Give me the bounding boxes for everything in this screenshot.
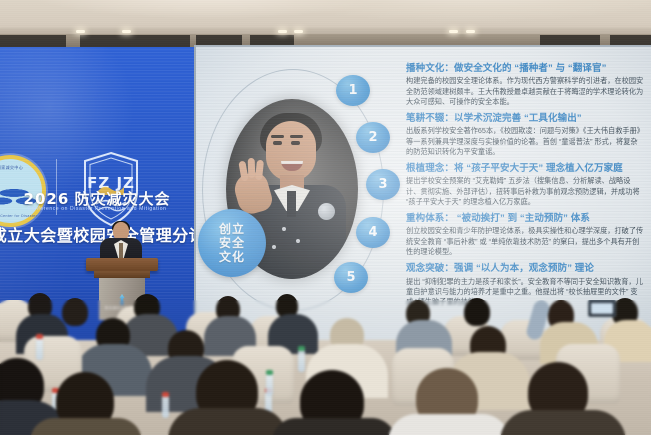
audience-body bbox=[388, 414, 510, 435]
slide-block-body: 构建完备的校园安全理论体系。作为现代西方警察科学的引进者，在校园安全防范领域建树… bbox=[406, 76, 644, 107]
ceiling-downlight bbox=[466, 30, 475, 33]
portrait-shoulder-insignia bbox=[318, 203, 335, 220]
culture-badge-line-3: 文化 bbox=[219, 250, 245, 264]
ceiling-downlight bbox=[76, 30, 85, 33]
audience-body bbox=[30, 418, 142, 435]
ceiling-downlight bbox=[278, 30, 287, 33]
slide-text-blocks: 播种文化：做安全文化的 “播种者” 与 “翻译官” 构建完备的校园安全理论体系。… bbox=[406, 63, 644, 313]
water-bottle bbox=[162, 396, 169, 418]
slide-block-heading: 笔耕不辍：以学术沉淀完善 “工具化输出” bbox=[406, 113, 644, 125]
portrait-finger bbox=[248, 158, 256, 178]
portrait-face bbox=[266, 121, 316, 181]
bottle-cap bbox=[162, 392, 169, 397]
slide-block-heading: 重构体系： “被动挨打” 到 “主动预防” 体系 bbox=[406, 213, 644, 225]
portrait-star bbox=[272, 245, 276, 249]
emblem-ring-text-top: 国家减灾中心 bbox=[0, 165, 42, 171]
bullet-bubble-5[interactable]: 5 bbox=[334, 262, 368, 293]
phone-screen bbox=[591, 303, 613, 314]
portrait-eye-right bbox=[291, 141, 300, 145]
slide-block-body: 提出学校安全预案的 “艾克勒姆” 五步法（搜集信息、分析解读、战略设计、贯彻实施… bbox=[406, 176, 644, 207]
portrait-tie bbox=[287, 191, 296, 217]
audience-body bbox=[500, 410, 626, 435]
conference-photo-scene: 国家减灾中心 National Center for Disaster FZ J… bbox=[0, 0, 651, 435]
slide-block-heading: 播种文化：做安全文化的 “播种者” 与 “翻译官” bbox=[406, 63, 644, 75]
banner-subtitle-en: Conference on Disaster Prevention and Mi… bbox=[0, 206, 194, 212]
portrait-brow-left bbox=[271, 135, 284, 138]
slide-block: 根植理念：将 “孩子平安大于天” 理念植入亿万家庭 提出学校安全预案的 “艾克勒… bbox=[406, 163, 644, 207]
water-bottle bbox=[36, 338, 43, 360]
bullet-bubble-4[interactable]: 4 bbox=[356, 217, 390, 248]
slide-block-heading: 观念突破：强调 “以人为本，观念预防” 理论 bbox=[406, 263, 644, 275]
slide-block-heading: 根植理念：将 “孩子平安大于天” 理念植入亿万家庭 bbox=[406, 163, 644, 175]
ceiling-downlight bbox=[294, 30, 303, 33]
slide-block: 播种文化：做安全文化的 “播种者” 与 “翻译官” 构建完备的校园安全理论体系。… bbox=[406, 63, 644, 107]
speaker-tie bbox=[119, 243, 123, 258]
portrait-star bbox=[296, 239, 300, 243]
culture-badge-line-2: 安全 bbox=[219, 236, 245, 250]
bottle-cap bbox=[266, 370, 273, 375]
audience-head bbox=[62, 298, 88, 326]
bottle-cap bbox=[36, 334, 43, 339]
bullet-bubble-2[interactable]: 2 bbox=[356, 122, 390, 153]
audience-body bbox=[272, 418, 396, 435]
audience-head bbox=[464, 298, 490, 326]
slide-block-body: 出版系列学校安全著作65本，《校园欺凌：问题与对策》《王大伟自救手册》等一系列兼… bbox=[406, 126, 644, 157]
portrait-star bbox=[282, 227, 286, 231]
portrait-brow-right bbox=[290, 135, 303, 138]
slide-block: 笔耕不辍：以学术沉淀完善 “工具化输出” 出版系列学校安全著作65本，《校园欺凌… bbox=[406, 113, 644, 157]
bullet-bubble-1[interactable]: 1 bbox=[336, 75, 370, 106]
podium-top bbox=[86, 258, 158, 271]
ceiling-downlight bbox=[122, 30, 131, 33]
audience-body bbox=[168, 408, 288, 435]
culture-badge-line-1: 创立 bbox=[219, 222, 245, 236]
water-bottle bbox=[298, 350, 305, 372]
emblem-ring-text-bottom: National Center for Disaster bbox=[0, 214, 42, 218]
slide-block-body: 创立校园安全和青少年防护理论体系，极具实操性和心理学深度，打破了传统安全教育 “… bbox=[406, 226, 644, 257]
ceiling-downlight bbox=[449, 30, 458, 33]
bullet-bubble-3[interactable]: 3 bbox=[366, 169, 400, 200]
bottle-cap bbox=[298, 346, 305, 351]
smartphone-held-up[interactable] bbox=[588, 300, 616, 317]
podium-neck bbox=[94, 271, 150, 278]
center-culture-badge: 创立 安全 文化 bbox=[198, 209, 266, 277]
portrait-eye-left bbox=[273, 141, 282, 145]
slide-block: 重构体系： “被动挨打” 到 “主动预防” 体系 创立校园安全和青少年防护理论体… bbox=[406, 213, 644, 257]
water-bottle bbox=[266, 374, 273, 396]
